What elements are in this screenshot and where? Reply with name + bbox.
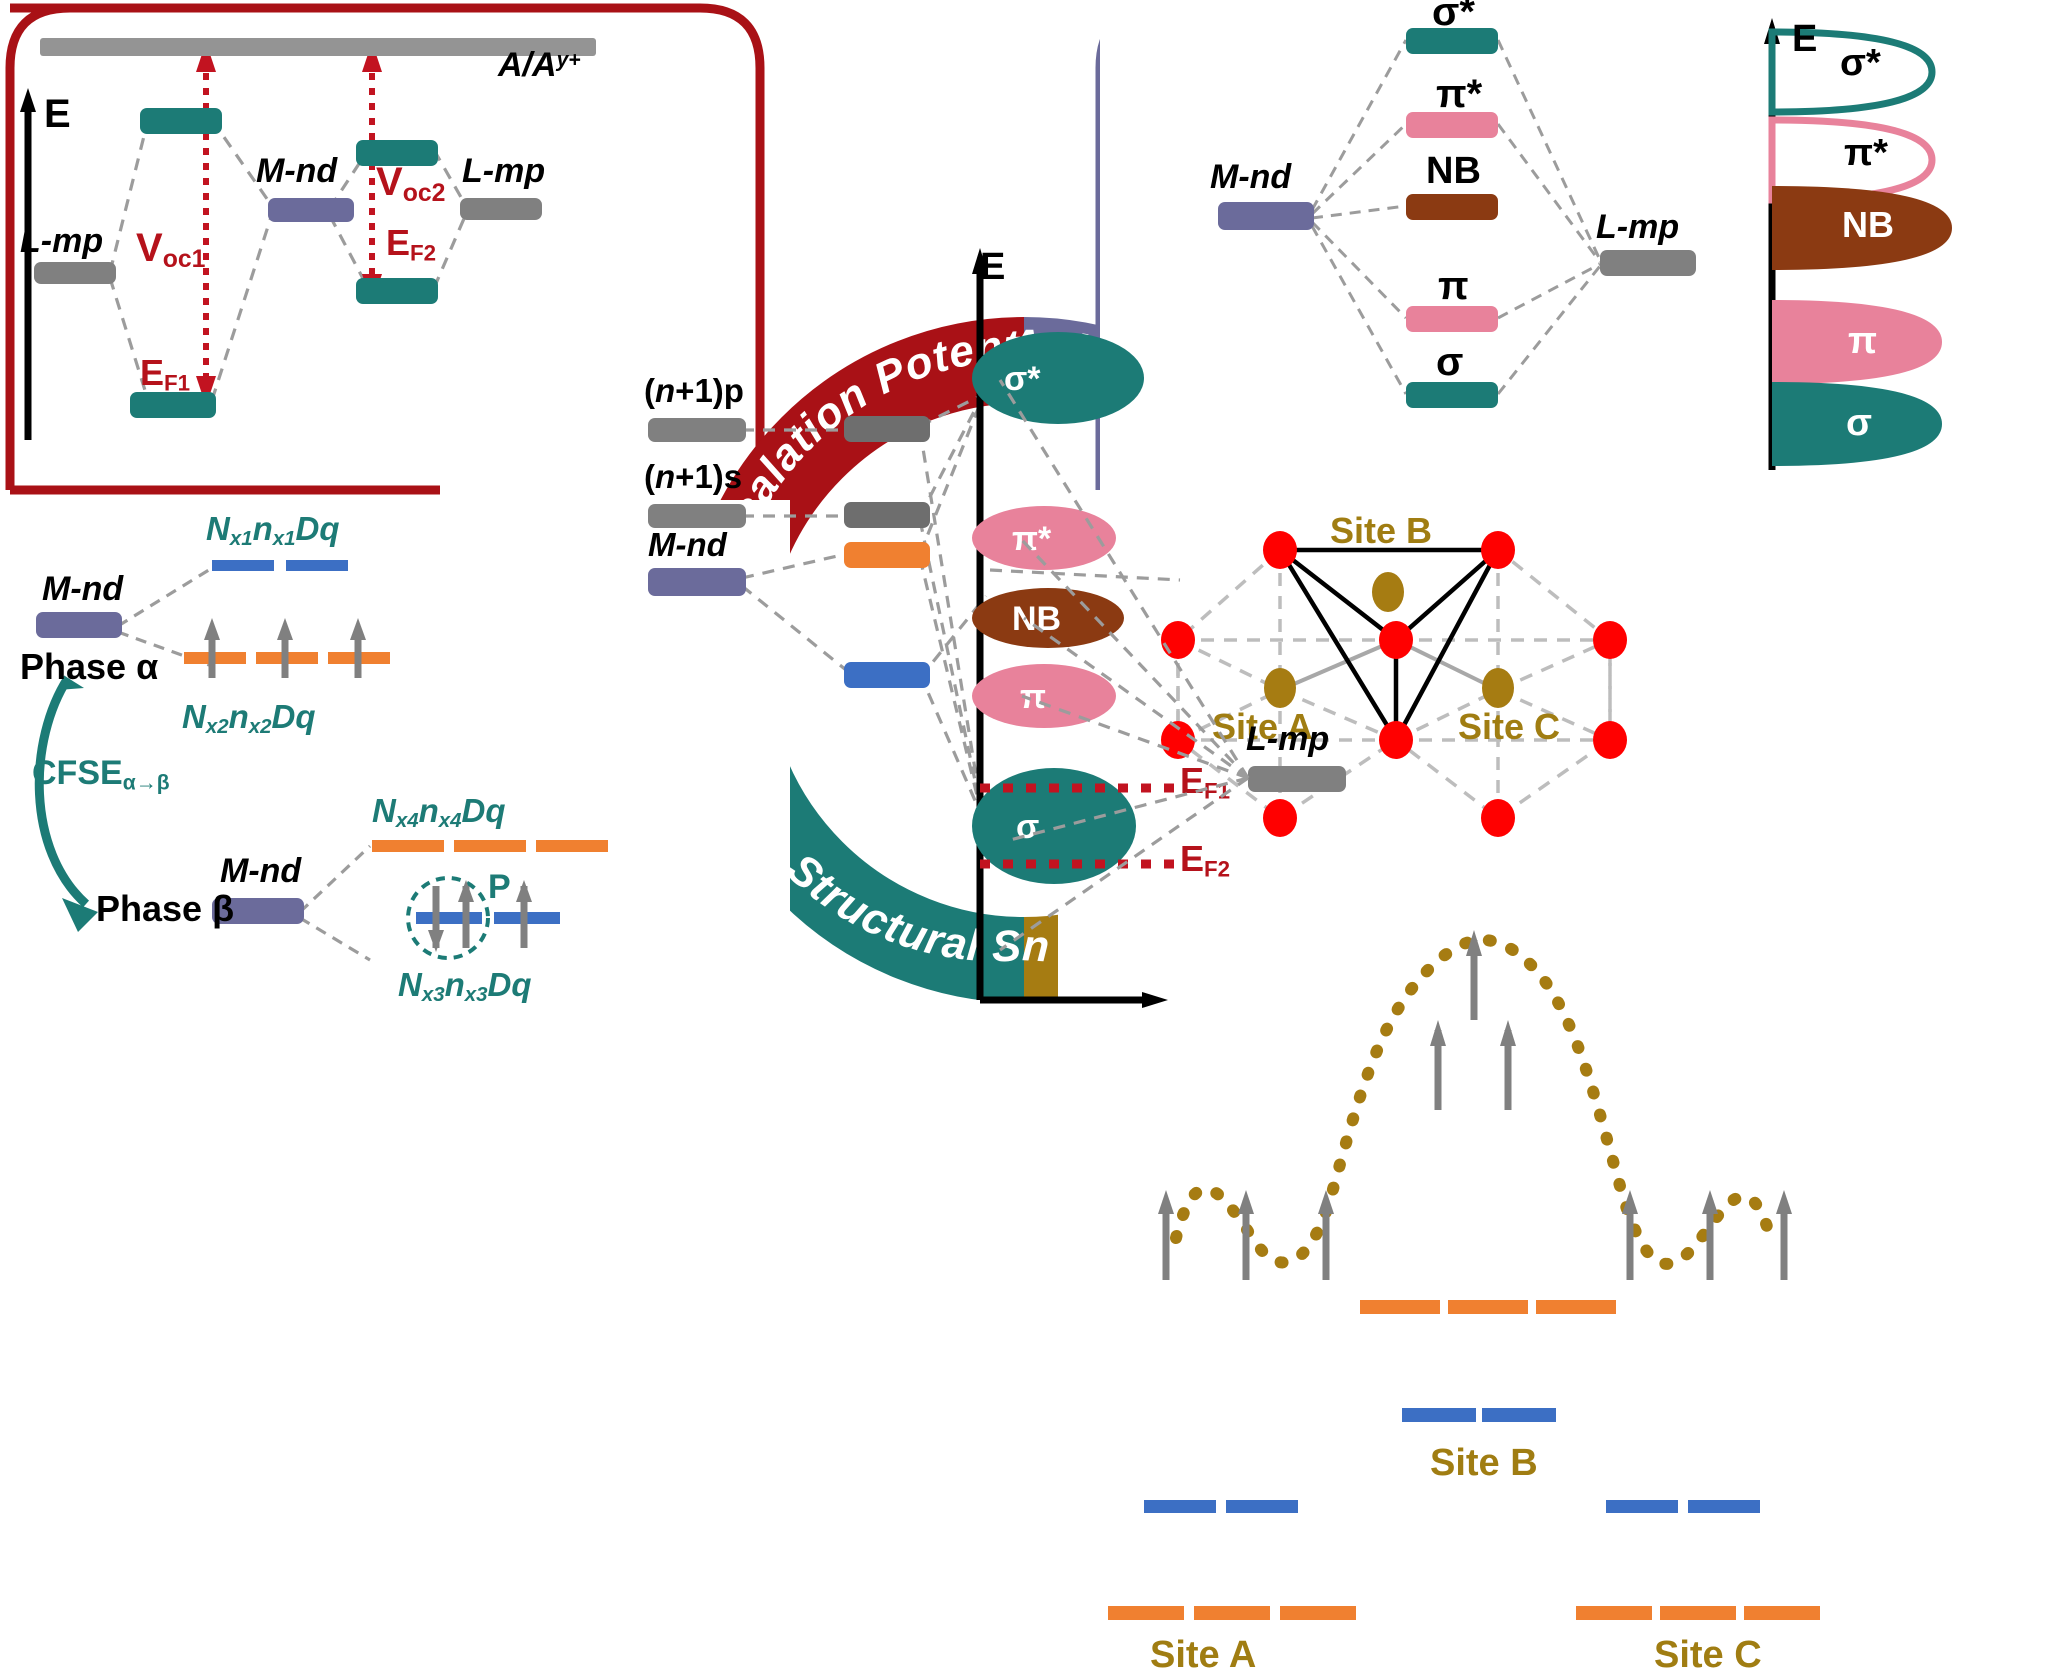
tr-level-sigma: [1406, 382, 1498, 408]
center-label-np1p: (n+1)p: [644, 372, 744, 410]
br-siteB-orange-1: [1360, 1300, 1440, 1314]
center-label-l-mp: L-mp: [1246, 720, 1329, 759]
bl-label-cfse: CFSEα→β: [32, 754, 170, 795]
tr-level-l-mp: [1600, 250, 1696, 276]
bl-label-m-nd-alpha: M-nd: [42, 570, 123, 609]
bl-label-phase-alpha: Phase α: [20, 646, 158, 688]
bl-term-nx1: Nx1nx1Dq: [206, 510, 339, 551]
tr-dos-label-sigma: σ: [1846, 402, 1872, 445]
level-l-mp-left: [34, 262, 116, 284]
transition-metal-ion-migration-panel: Site B Site A Site C Site A Site B Site …: [1058, 500, 2048, 1320]
tr-label-sigma: σ: [1436, 340, 1463, 385]
tl-label-redox-couple: A/Ay+: [498, 46, 581, 85]
br-siteA-blue-2: [1226, 1500, 1298, 1513]
tr-label-m-nd: M-nd: [1210, 158, 1291, 197]
tl-label-ef1: EF1: [140, 352, 190, 397]
center-band-label-sigma: σ: [1016, 808, 1039, 847]
tr-label-pi-star: π*: [1436, 72, 1482, 117]
bl-label-phase-beta: Phase β: [96, 888, 234, 930]
br-profile-label-site-a: Site A: [1150, 1634, 1256, 1677]
br-lattice: [1058, 500, 2048, 1320]
center-level-l-mp: [1248, 766, 1346, 792]
br-siteC-orange-1: [1576, 1606, 1652, 1620]
tr-label-nb: NB: [1426, 150, 1481, 193]
br-profile-label-site-b: Site B: [1430, 1442, 1538, 1485]
br-profile-label-site-c: Site C: [1654, 1634, 1762, 1677]
center-band-label-pi: π: [1020, 678, 1046, 717]
tl-label-m-nd: M-nd: [256, 152, 337, 191]
center-level-eg: [844, 542, 930, 568]
br-lattice-label-site-b: Site B: [1330, 510, 1432, 552]
central-mo-energy-diagram: (n+1)p (n+1)s M-nd E σ* π* NB π σ EF1 EF…: [620, 300, 1180, 1060]
tl-label-voc1: Voc1: [136, 226, 205, 274]
tr-dos-label-sigma-star: σ*: [1840, 42, 1881, 85]
tr-label-l-mp: L-mp: [1596, 208, 1679, 247]
level-m-nd-center: [268, 198, 354, 222]
br-siteB-blue-1: [1402, 1408, 1476, 1422]
br-siteB-orange-2: [1448, 1300, 1528, 1314]
tr-connectors: [1100, 0, 2048, 500]
center-level-np1p-left: [648, 418, 746, 442]
tr-label-sigma-star: σ*: [1432, 0, 1475, 35]
center-label-m-nd: M-nd: [648, 526, 727, 564]
center-band-label-nb: NB: [1012, 600, 1061, 639]
center-level-m-nd: [648, 568, 746, 596]
bl-label-m-nd-beta: M-nd: [220, 852, 301, 891]
br-siteB-orange-3: [1536, 1300, 1616, 1314]
br-siteC-blue-1: [1606, 1500, 1678, 1513]
center-band-label-sigma-star: σ*: [1004, 360, 1041, 399]
bl-term-nx4: Nx4nx4Dq: [372, 792, 505, 833]
br-siteA-orange-3: [1280, 1606, 1356, 1620]
center-level-np1p-right: [844, 416, 930, 442]
br-siteA-orange-1: [1108, 1606, 1184, 1620]
bl-term-nx2: Nx2nx2Dq: [182, 698, 315, 739]
tr-level-nb: [1406, 194, 1498, 220]
level-bonding-left: [140, 108, 222, 134]
center-label-ef2: EF2: [1180, 838, 1230, 883]
level-l-mp-right: [460, 198, 542, 220]
br-siteA-orange-2: [1194, 1606, 1270, 1620]
br-siteC-orange-3: [1744, 1606, 1820, 1620]
center-band-label-pi-star: π*: [1012, 520, 1051, 559]
tl-label-voc2: Voc2: [376, 160, 445, 208]
tl-label-l-mp-left: L-mp: [20, 222, 103, 261]
tr-dos-label-nb: NB: [1842, 204, 1894, 246]
tr-level-m-nd: [1218, 202, 1314, 230]
tl-axis-label-E: E: [44, 92, 71, 137]
tr-level-pi: [1406, 306, 1498, 332]
tl-label-ef2: EF2: [386, 222, 436, 267]
br-siteC-orange-2: [1660, 1606, 1736, 1620]
tr-dos-label-pi: π: [1848, 320, 1877, 363]
tr-axis-label-E: E: [1792, 18, 1817, 61]
tr-dos-label-pi-star: π*: [1844, 132, 1888, 175]
center-label-np1s: (n+1)s: [644, 458, 742, 496]
center-axis-label-E: E: [980, 246, 1005, 289]
center-level-np1s-right: [844, 502, 930, 528]
br-lattice-label-site-c: Site C: [1458, 706, 1560, 748]
tr-label-pi: π: [1438, 264, 1469, 309]
center-label-ef1: EF1: [1180, 760, 1230, 805]
center-level-np1s-left: [648, 504, 746, 528]
bl-term-nx3: Nx3nx3Dq: [398, 966, 531, 1007]
br-siteB-blue-2: [1482, 1408, 1556, 1422]
center-level-t2g: [844, 662, 930, 688]
br-siteC-blue-2: [1688, 1500, 1760, 1513]
level-antibonding-right: [356, 278, 438, 304]
anionic-redox-activity-panel: σ* π* NB π σ M-nd L-mp E σ* π* NB π σ: [1100, 0, 2048, 500]
bl-label-pairing: P: [488, 868, 511, 907]
tl-label-l-mp-right: L-mp: [462, 152, 545, 191]
br-siteA-blue-1: [1144, 1500, 1216, 1513]
